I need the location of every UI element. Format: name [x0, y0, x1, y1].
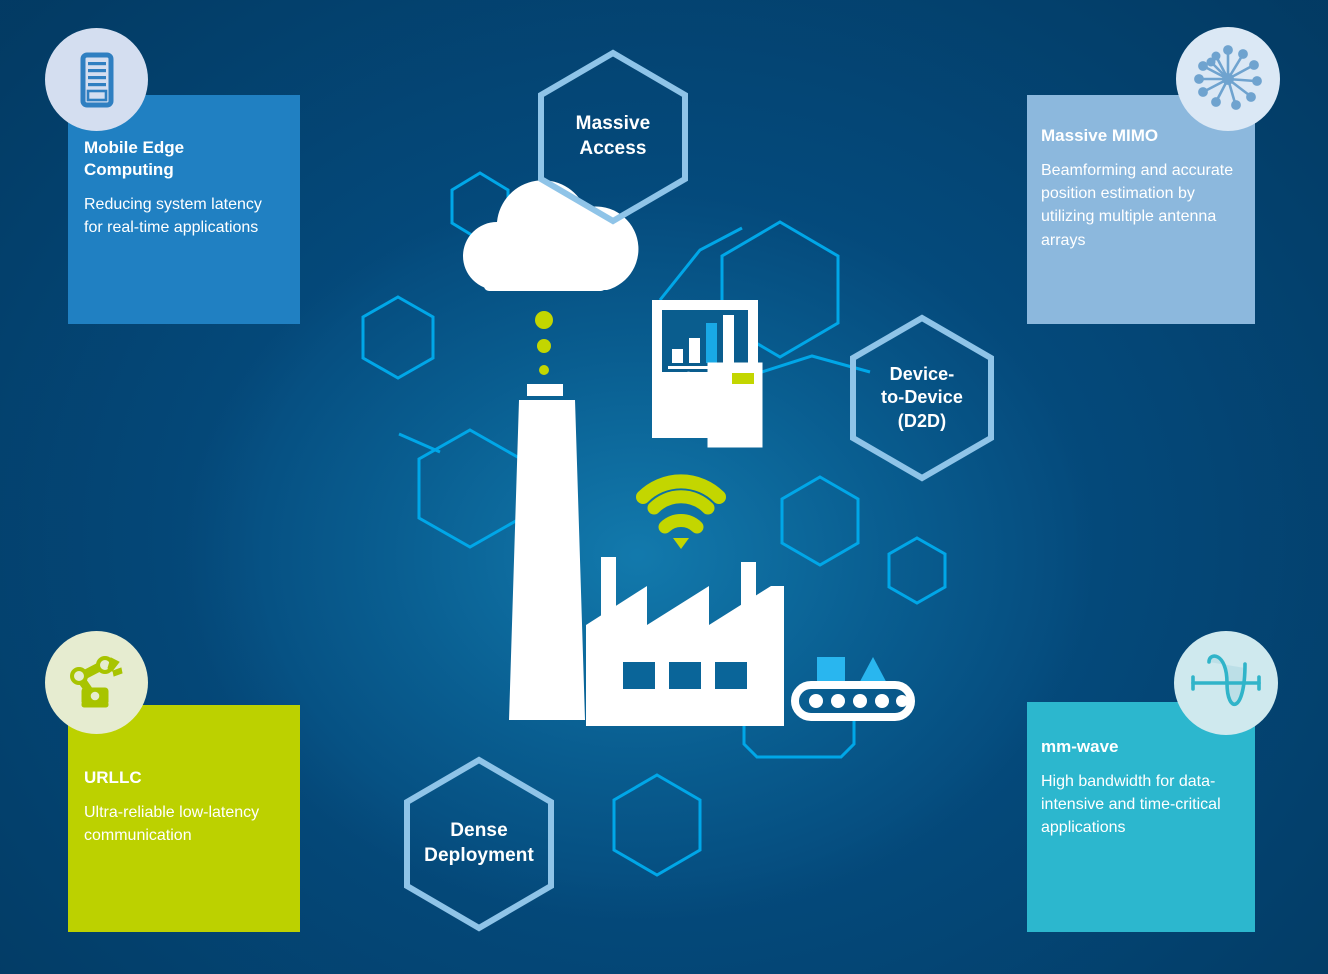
- hexagon-outline: [614, 775, 700, 875]
- server-icon: [74, 52, 120, 108]
- hex-line: (D2D): [881, 410, 963, 433]
- hex-line: to-Device: [881, 386, 963, 409]
- card-title: mm-wave: [1041, 736, 1239, 758]
- chart-bar: [672, 349, 683, 363]
- card-body: Beamforming and accurate position estima…: [1041, 159, 1239, 252]
- factory-window: [669, 662, 701, 689]
- hex-label-device-to-device: Device- to-Device (D2D): [853, 318, 991, 478]
- uplink-dot: [539, 365, 549, 375]
- hex-label-massive-access: Massive Access: [541, 53, 685, 221]
- wifi-dot: [673, 538, 689, 549]
- badge-mm-wave: [1174, 631, 1278, 735]
- card-urllc[interactable]: URLLC Ultra-reliable low-latency communi…: [68, 705, 300, 932]
- factory-building: [586, 557, 784, 726]
- chart-bar: [706, 323, 717, 363]
- chart-bar: [723, 315, 734, 363]
- uplink-dot: [537, 339, 551, 353]
- hex-line: Deployment: [424, 844, 534, 869]
- conveyor-belt: [795, 657, 911, 717]
- hexagon-outline: [782, 477, 858, 565]
- hexagon-outline: [363, 297, 433, 378]
- conveyor-roller: [896, 695, 908, 707]
- smokestack: [509, 384, 585, 720]
- hex-line: Device-: [881, 363, 963, 386]
- card-body: Reducing system latency for real-time ap…: [84, 193, 272, 240]
- connector-line: [399, 434, 440, 452]
- hex-line: Massive: [576, 112, 651, 137]
- card-title: Mobile Edge Computing: [84, 137, 272, 181]
- hexagon-outline: [889, 538, 945, 603]
- wifi-icon: [654, 497, 708, 527]
- hexagon-outline: [419, 430, 521, 547]
- connector-line: [660, 228, 742, 300]
- card-body: Ultra-reliable low-latency communication: [84, 801, 276, 848]
- chart-bar: [689, 338, 700, 363]
- conveyor-roller: [853, 694, 867, 708]
- antenna-array-icon: [1191, 42, 1265, 116]
- conveyor-roller: [831, 694, 845, 708]
- uplink-dots: [535, 311, 553, 375]
- badge-mobile-edge-computing: [45, 28, 148, 131]
- conveyor-roller: [809, 694, 823, 708]
- uplink-dot: [535, 311, 553, 329]
- robot-arm-icon: [66, 652, 128, 714]
- hex-label-dense-deployment: Dense Deployment: [400, 760, 558, 928]
- badge-urllc: [45, 631, 148, 734]
- card-title: URLLC: [84, 767, 276, 789]
- card-title: Massive MIMO: [1041, 125, 1239, 147]
- badge-massive-mimo: [1176, 27, 1280, 131]
- card-body: High bandwidth for data-intensive and ti…: [1041, 770, 1239, 840]
- mobile-device-panel: [711, 366, 759, 444]
- factory-window: [623, 662, 655, 689]
- conveyor-roller: [875, 694, 889, 708]
- hex-line: Dense: [424, 819, 534, 844]
- infographic-canvas: 1340: [0, 0, 1328, 974]
- factory-window: [715, 662, 747, 689]
- hex-line: Access: [576, 137, 651, 162]
- card-mm-wave[interactable]: mm-wave High bandwidth for data-intensiv…: [1027, 702, 1255, 932]
- sine-wave-icon: [1187, 648, 1265, 718]
